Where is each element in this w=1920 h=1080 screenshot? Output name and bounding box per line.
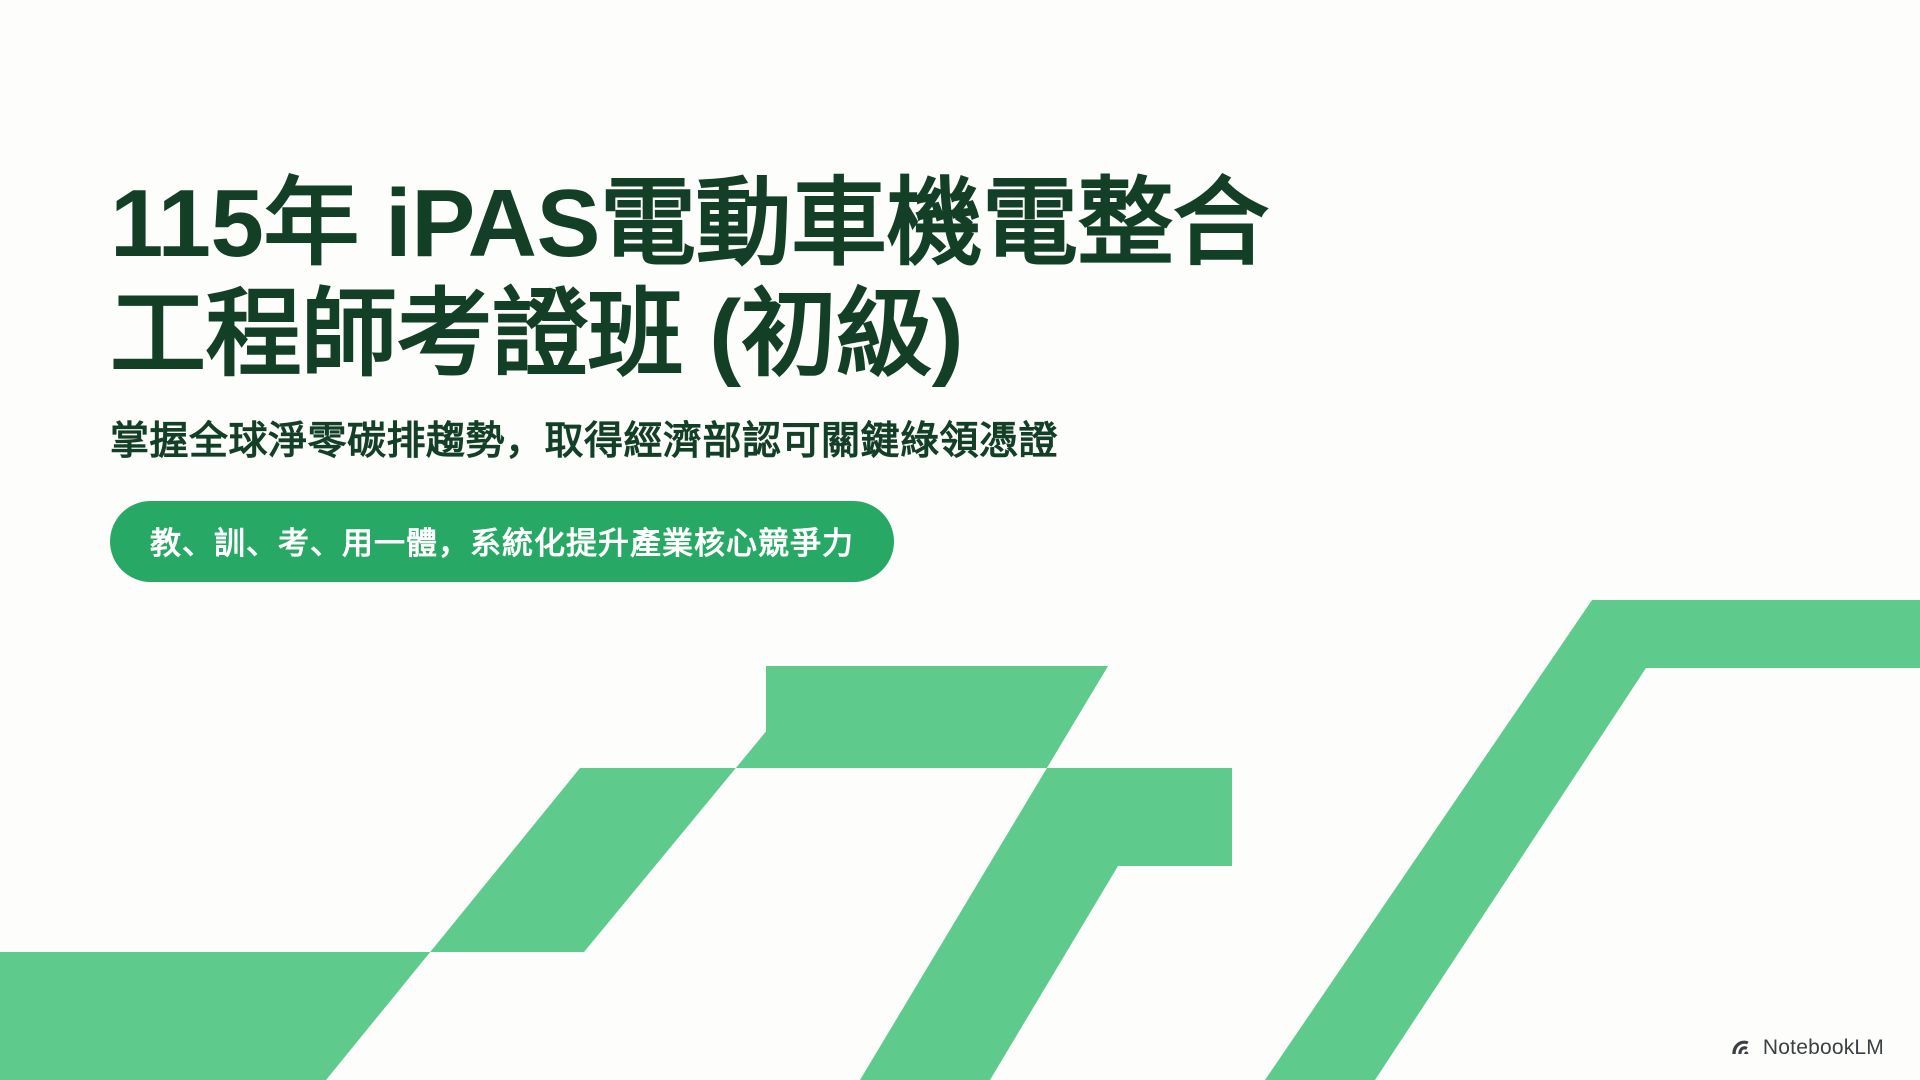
notebooklm-watermark: NotebookLM — [1729, 1035, 1884, 1060]
page-title: 115年 iPAS電動車機電整合 工程師考證班 (初級) — [110, 168, 1610, 391]
zigzag-path-right — [1265, 600, 1920, 1080]
badge-row: 教、訓、考、用一體，系統化提升產業核心競爭力 — [110, 501, 1610, 582]
notebooklm-icon — [1729, 1035, 1754, 1060]
presentation-slide: 115年 iPAS電動車機電整合 工程師考證班 (初級) 掌握全球淨零碳排趨勢，… — [0, 0, 1920, 1080]
zigzag-path-right-cap — [1592, 600, 1920, 668]
zigzag-path-middle-top — [766, 666, 1108, 768]
status-badge: 教、訓、考、用一體，系統化提升產業核心競爭力 — [110, 501, 894, 582]
notebooklm-label: NotebookLM — [1763, 1036, 1884, 1060]
subtitle: 掌握全球淨零碳排趨勢，取得經濟部認可關鍵綠領憑證 — [110, 417, 1610, 468]
zigzag-path-left — [0, 666, 820, 1080]
zigzag-path-middle — [766, 666, 1232, 1080]
title-line-2: 工程師考證班 (初級) — [110, 279, 1610, 390]
slide-content: 115年 iPAS電動車機電整合 工程師考證班 (初級) 掌握全球淨零碳排趨勢，… — [110, 168, 1610, 582]
title-line-1: 115年 iPAS電動車機電整合 — [110, 168, 1610, 279]
